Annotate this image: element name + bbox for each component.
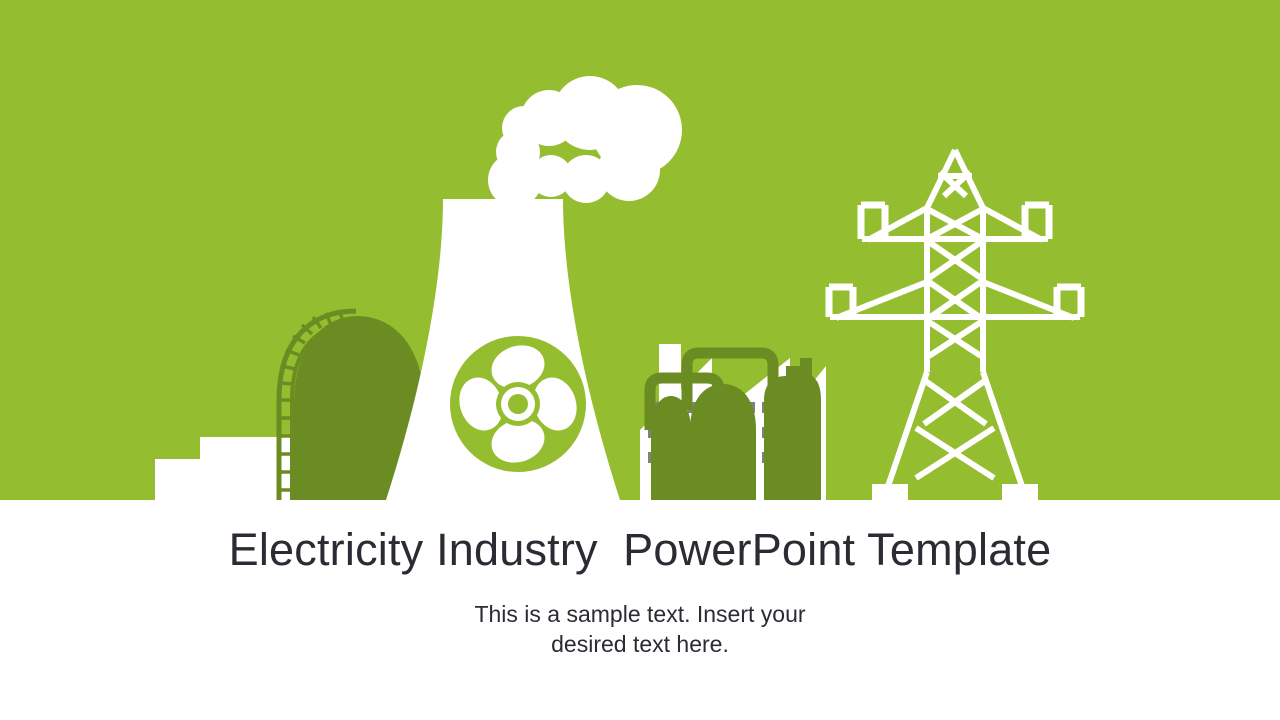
slide-subtitle: This is a sample text. Insert your desir… <box>450 576 830 660</box>
slide-text-block: Electricity Industry PowerPoint Template… <box>0 500 1280 660</box>
fan-icon <box>450 336 586 472</box>
green-background-band <box>0 0 1280 500</box>
slide-canvas: Electricity Industry PowerPoint Template… <box>0 0 1280 720</box>
page-title: Electricity Industry PowerPoint Template <box>0 500 1280 576</box>
electricity-industry-illustration <box>0 0 1280 500</box>
